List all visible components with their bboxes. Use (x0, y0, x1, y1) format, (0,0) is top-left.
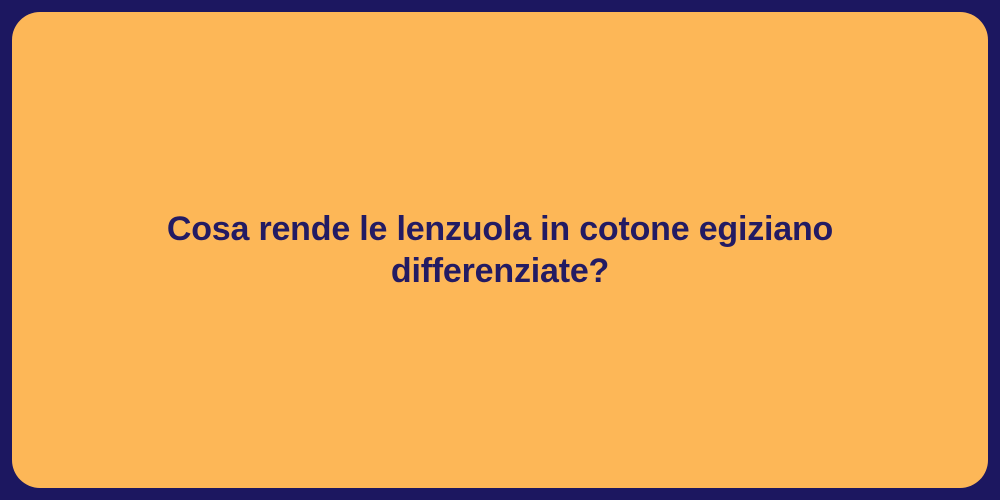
question-heading: Cosa rende le lenzuola in cotone egizian… (72, 208, 928, 293)
question-card-panel: Cosa rende le lenzuola in cotone egizian… (12, 12, 988, 488)
screenshot-canvas: Cosa rende le lenzuola in cotone egizian… (0, 0, 1000, 500)
card-border-frame: Cosa rende le lenzuola in cotone egizian… (0, 0, 1000, 500)
